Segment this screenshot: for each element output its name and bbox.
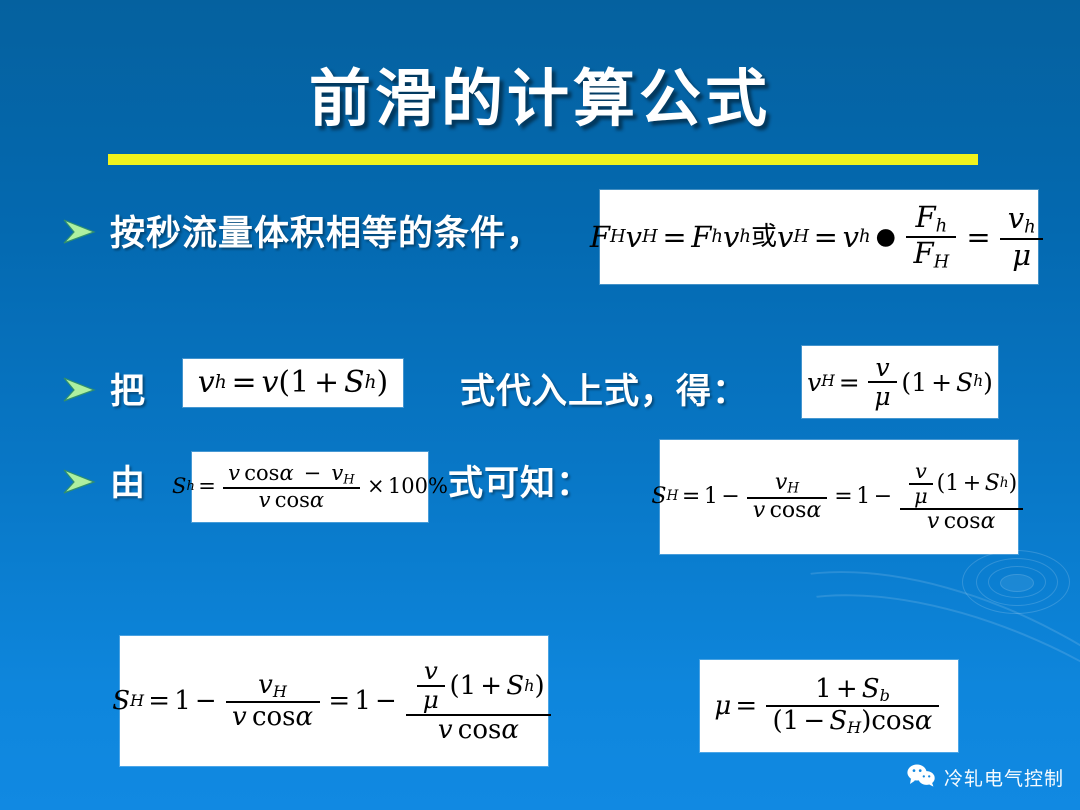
bullet-2-text-after: 式代入上式，得： — [460, 363, 748, 414]
bullet-3-text-after: 式可知： — [448, 455, 592, 506]
mu-definition-formula-box: μ = 1+Sb (1−SH)cosα — [700, 660, 958, 752]
bullet-row-2: 把 — [62, 363, 146, 414]
ripple-decoration-core — [1000, 574, 1034, 592]
watermark-label: 冷轧电气控制 — [944, 764, 1064, 791]
ripple-decoration-3 — [962, 550, 1070, 614]
vh-definition-formula-box: vh = v(1+Sh) — [183, 359, 403, 407]
flow-continuity-formula-box: FHvH = Fhvh 或 vH = vh ● Fh FH = vh μ — [600, 190, 1038, 284]
bullet-2-text-before: 把 — [110, 363, 146, 414]
ripple-decoration-1 — [988, 566, 1046, 598]
arrow-bullet-icon — [62, 374, 96, 404]
watermark: 冷轧电气控制 — [906, 763, 1064, 792]
arrow-bullet-icon — [62, 466, 96, 496]
vH-substituted-formula-box: vH = v μ (1+Sh) — [802, 346, 998, 418]
slide-canvas: 前滑的计算公式 按秒流量体积相等的条件， FHvH = Fhvh 或 vH = … — [0, 0, 1080, 810]
bullet-row-1: 按秒流量体积相等的条件， — [62, 205, 542, 256]
forward-slip-sH-formula-box: SH =1− vH v cosα =1− v μ (1+Sh) v cosα — [660, 440, 1018, 554]
bullet-3-text-before: 由 — [110, 455, 146, 506]
bullet-1-text: 按秒流量体积相等的条件， — [110, 205, 542, 256]
page-title: 前滑的计算公式 — [0, 48, 1080, 138]
bullet-row-3: 由 — [62, 455, 146, 506]
forward-slip-sH-formula-large-box: SH =1− vH v cosα =1− v μ (1+Sh) v cosα — [120, 636, 548, 766]
title-underline-rule — [108, 154, 978, 165]
forward-slip-sh-formula-box: Sh = v cosα − vH v cosα ×100% — [192, 452, 428, 522]
ripple-decoration-2 — [976, 558, 1058, 606]
arrow-bullet-icon — [62, 216, 96, 246]
wechat-icon — [906, 763, 936, 792]
